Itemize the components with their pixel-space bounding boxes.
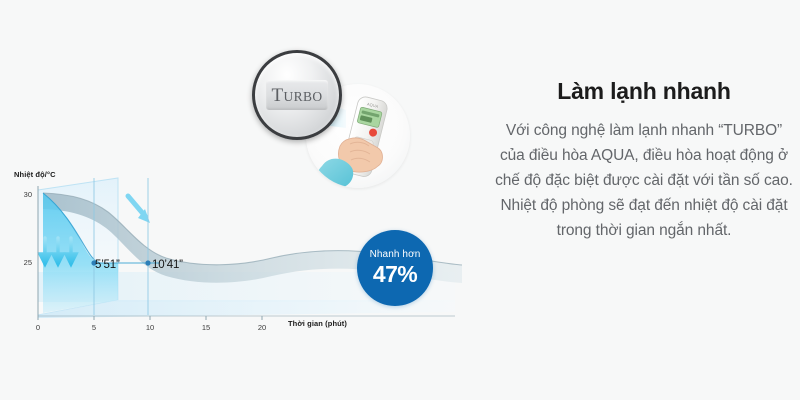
y-tick-label-30: 30 <box>16 190 32 199</box>
x-tick-label-10: 10 <box>144 323 156 332</box>
turbo-label-initial: T <box>271 85 283 106</box>
x-tick-label-20: 20 <box>256 323 268 332</box>
badge-label: Nhanh hơn <box>370 250 421 260</box>
x-tick-label-0: 0 <box>32 323 44 332</box>
cooling-chart: Nhiệt độ/°C Thời gian (phút) 30 25 0 5 1… <box>0 0 470 400</box>
annotation-normal-time: 10’41” <box>152 259 183 271</box>
turbo-label-rest: URBO <box>283 89 322 104</box>
y-tick-label-25: 25 <box>16 258 32 267</box>
marker-normal <box>145 260 150 265</box>
body-paragraph: Với công nghệ làm lạnh nhanh “TURBO” của… <box>488 118 800 244</box>
chart-canvas <box>0 0 470 400</box>
flow-arrow-icon <box>128 196 150 223</box>
annotation-turbo-time: 5’51” <box>95 259 120 271</box>
x-tick-label-15: 15 <box>200 323 212 332</box>
x-tick-label-5: 5 <box>88 323 100 332</box>
turbo-screen: TURBO <box>266 80 328 110</box>
copy-panel: Làm lạnh nhanh Với công nghệ làm lạnh nh… <box>488 0 800 400</box>
turbo-display-magnifier: TURBO <box>252 50 342 140</box>
speed-badge: Nhanh hơn 47% <box>357 230 433 306</box>
slide-root: Nhiệt độ/°C Thời gian (phút) 30 25 0 5 1… <box>0 0 800 400</box>
y-axis-title: Nhiệt độ/°C <box>14 170 56 179</box>
page-title: Làm lạnh nhanh <box>557 78 731 106</box>
turbo-label: TURBO <box>271 86 322 105</box>
x-axis-title: Thời gian (phút) <box>288 319 347 328</box>
badge-value: 47% <box>373 262 417 286</box>
